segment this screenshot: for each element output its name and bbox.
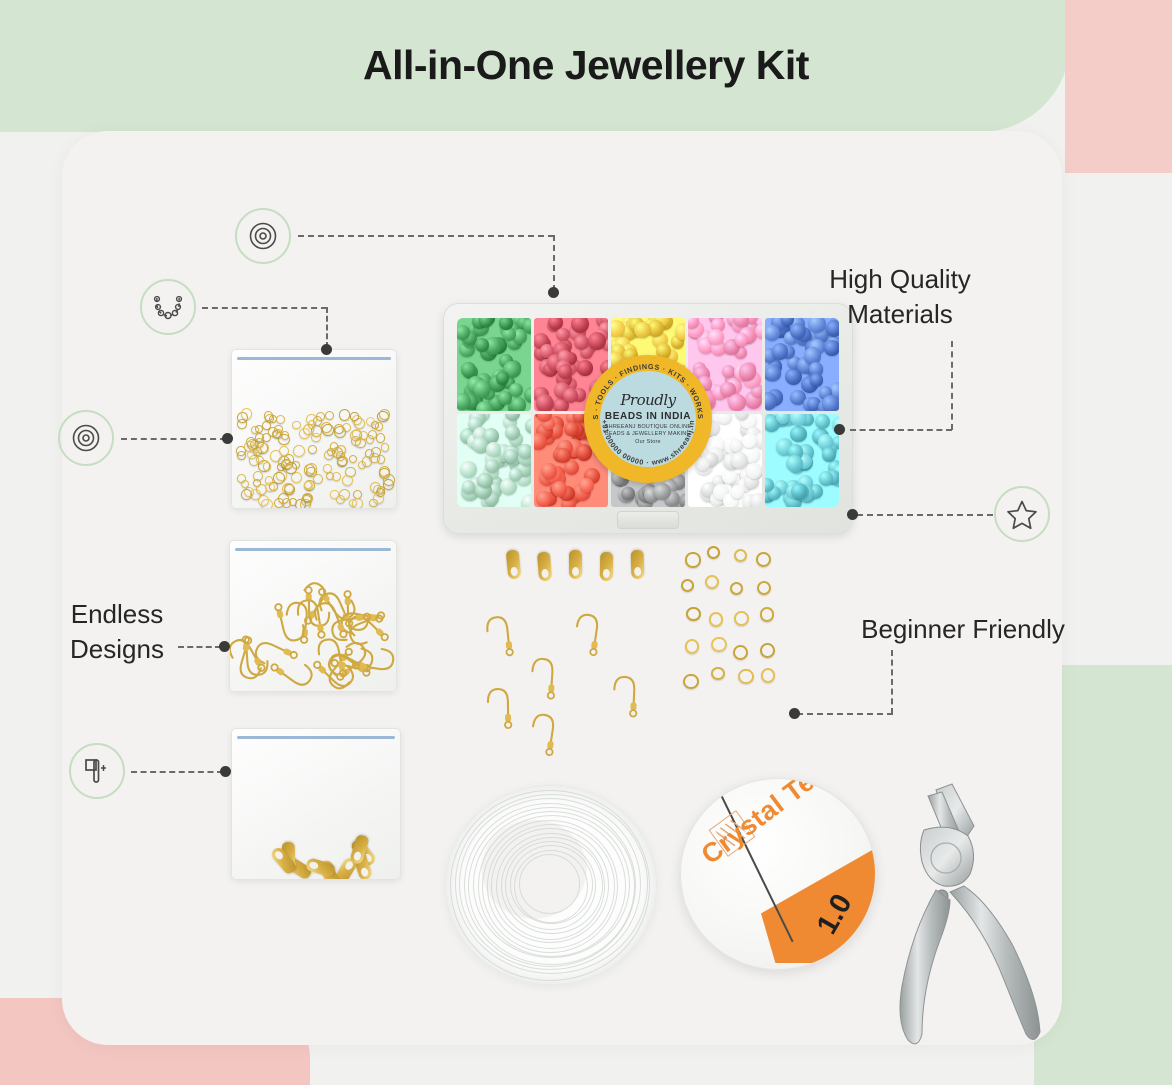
jump-ring — [265, 482, 275, 492]
bead-compartment-green — [457, 318, 531, 411]
jump-ring — [278, 456, 289, 467]
connector-dot-bead-top — [548, 287, 559, 298]
loose-jump-rings — [684, 548, 784, 713]
jump-ring — [299, 428, 310, 439]
connector-bead-top-h — [298, 235, 554, 237]
jump-ring — [373, 493, 383, 503]
connector-dot-bead-left — [222, 433, 233, 444]
jump-ring — [241, 408, 252, 419]
jump-ring — [756, 552, 771, 567]
connector-pliers-icon-h — [131, 771, 223, 773]
connector-bead-top-v — [553, 235, 555, 291]
lobster-clasp — [569, 550, 582, 579]
jump-ring — [332, 472, 341, 481]
sticker-arc-text: BEADS · TOOLS · FINDINGS · KITS · WORKSH… — [584, 355, 712, 483]
bead-cluster — [457, 414, 531, 507]
jump-ring — [253, 471, 264, 482]
connector-necklace-v — [326, 307, 328, 348]
jump-ring — [306, 414, 317, 425]
jump-ring — [379, 409, 390, 420]
connector-dot-beginner-friendly — [789, 708, 800, 719]
page-title: All-in-One Jewellery Kit — [0, 42, 1172, 89]
jump-ring — [289, 498, 297, 506]
jump-ring — [375, 422, 383, 430]
jump-ring — [337, 456, 347, 466]
bag-contents-lobster-clasps — [232, 813, 400, 879]
jump-ring — [325, 411, 334, 420]
lobster-clasp — [600, 552, 613, 581]
lobster-clasp — [506, 549, 522, 579]
jump-ring — [733, 645, 748, 660]
jump-ring — [342, 475, 353, 486]
jump-ring — [241, 489, 252, 500]
connector-endless-designs-h — [178, 646, 221, 648]
star-icon[interactable] — [994, 486, 1050, 542]
earring-hook — [528, 655, 561, 701]
earring-hook — [570, 610, 606, 658]
bag-seal-line — [235, 548, 391, 551]
chain-nose-pliers — [888, 782, 1058, 1054]
jump-ring — [381, 443, 389, 451]
svg-text:BEADS · TOOLS · FINDINGS · KIT: BEADS · TOOLS · FINDINGS · KITS · WORKSH… — [584, 355, 705, 420]
connector-high-quality-v — [951, 341, 953, 430]
jump-ring — [334, 426, 346, 438]
jump-ring — [352, 498, 363, 509]
jump-ring — [709, 612, 724, 627]
box-latch — [617, 511, 679, 529]
jump-ring — [757, 581, 771, 595]
bead-cluster — [765, 414, 839, 507]
jump-ring — [362, 456, 373, 467]
connector-dot-high-quality — [834, 424, 845, 435]
jump-ring — [366, 417, 375, 426]
connector-necklace-h — [202, 307, 327, 309]
jump-ring — [323, 464, 332, 473]
jump-ring — [263, 462, 272, 471]
jump-ring — [274, 498, 284, 508]
bag-lobster-clasps — [231, 728, 401, 880]
connector-dot-necklace — [321, 344, 332, 355]
earring-hook — [327, 609, 375, 645]
bag-seal-line — [237, 357, 391, 360]
earring-hook — [610, 673, 642, 718]
bead-cluster — [457, 318, 531, 411]
bead-circles-icon[interactable] — [58, 410, 114, 466]
feature-label-beginner-friendly: Beginner Friendly — [861, 612, 1065, 647]
bag-jump-rings — [231, 349, 397, 509]
jump-ring — [355, 438, 366, 449]
crystal-tec-spool: Crystal Tec 1.0 — [680, 778, 876, 970]
lobster-clasp — [631, 550, 645, 579]
jump-ring — [734, 611, 749, 626]
jump-ring — [301, 495, 312, 506]
connector-star-h — [857, 514, 993, 516]
jump-ring — [705, 575, 719, 589]
jump-ring — [313, 474, 323, 484]
jump-ring — [685, 639, 699, 653]
jump-ring — [293, 445, 305, 457]
jump-ring — [685, 552, 700, 567]
bag-seal-line — [237, 736, 395, 739]
jump-ring — [681, 579, 694, 592]
bead-cluster — [765, 318, 839, 411]
bead-organizer-box: BEADS · TOOLS · FINDINGS · KITS · WORKSH… — [443, 303, 853, 534]
jump-ring — [261, 499, 272, 509]
jump-ring — [711, 637, 726, 652]
feature-label-endless-designs: Endless Designs — [70, 597, 164, 667]
jump-ring — [350, 412, 358, 420]
jump-ring — [255, 433, 264, 442]
connector-high-quality-h — [850, 429, 952, 431]
connector-beginner-friendly-h — [797, 713, 893, 715]
infographic-canvas: All-in-One Jewellery Kit BEADS · TOOLS ·… — [0, 0, 1172, 1085]
jump-ring — [339, 409, 351, 421]
bag-earring-hooks — [229, 540, 397, 692]
bag-contents-jump-rings — [232, 408, 396, 508]
bead-compartment-blue — [765, 318, 839, 411]
jump-ring — [262, 421, 271, 430]
loose-lobster-clasps — [505, 548, 665, 588]
cord-loop — [519, 854, 580, 914]
jump-ring — [730, 582, 743, 595]
jump-ring — [738, 669, 754, 685]
earring-hook — [485, 686, 515, 730]
bead-compartment-mint — [457, 414, 531, 507]
jump-ring — [276, 415, 285, 424]
bead-compartment-turquoise — [765, 414, 839, 507]
loose-earring-hooks — [483, 608, 663, 743]
bead-circles-icon[interactable] — [235, 208, 291, 264]
earring-hook — [350, 642, 397, 678]
lobster-clasp — [537, 552, 552, 582]
connector-dot-star — [847, 509, 858, 520]
jump-ring — [761, 668, 775, 682]
jump-ring — [272, 430, 280, 438]
jump-ring — [734, 549, 747, 562]
brand-sticker: BEADS · TOOLS · FINDINGS · KITS · WORKSH… — [584, 355, 712, 483]
jump-ring — [322, 424, 333, 435]
connector-beginner-friendly-v — [891, 650, 893, 714]
jump-ring — [349, 455, 357, 463]
jump-ring — [308, 445, 317, 454]
connector-dot-endless-designs — [219, 641, 230, 652]
pliers-tool-icon[interactable] — [69, 743, 125, 799]
necklace-icon[interactable] — [140, 279, 196, 335]
jump-ring — [260, 443, 269, 452]
connector-dot-pliers-icon — [220, 766, 231, 777]
connector-bead-left-h — [121, 438, 226, 440]
svg-text:+91 00000 00000 · www.shreeanj: +91 00000 00000 · www.shreeanj.in — [600, 419, 696, 467]
jump-ring — [255, 425, 263, 433]
jump-ring — [760, 607, 775, 622]
jump-ring — [237, 451, 246, 460]
bag-contents-earring-hooks — [230, 579, 396, 691]
jump-ring — [311, 433, 321, 443]
jump-ring — [273, 472, 285, 484]
jump-ring — [292, 421, 301, 430]
feature-label-high-quality-materials: High Quality Materials — [829, 262, 971, 332]
jump-ring — [707, 546, 720, 559]
jump-ring — [686, 607, 700, 621]
jump-ring — [377, 455, 386, 464]
jump-ring — [336, 495, 345, 504]
jump-ring — [711, 667, 724, 680]
jump-ring — [284, 483, 294, 493]
elastic-cord-coil — [445, 785, 657, 985]
jump-ring — [760, 643, 775, 658]
earring-hook — [483, 613, 517, 660]
jump-ring — [683, 674, 698, 689]
